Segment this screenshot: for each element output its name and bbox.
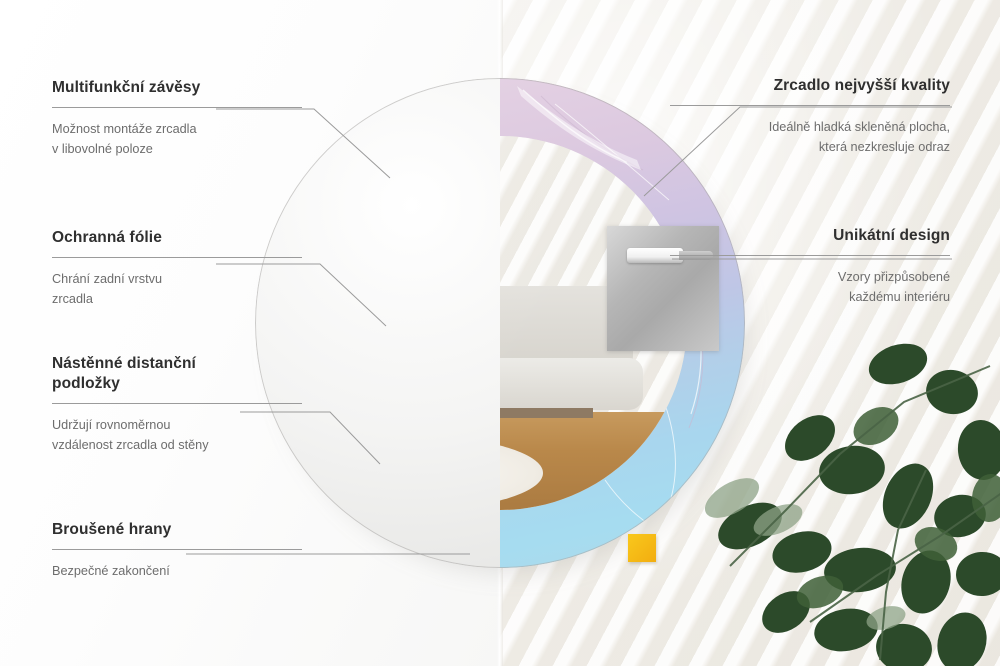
- callout-rule: [52, 257, 302, 258]
- callout-title: Broušené hrany: [52, 520, 302, 540]
- callout-multifunctional-hangers: Multifunkční závěsy Možnost montáže zrca…: [52, 78, 302, 160]
- infographic-canvas: Multifunkční závěsy Možnost montáže zrca…: [0, 0, 1000, 666]
- callout-rule: [670, 255, 950, 256]
- callout-title: Multifunkční závěsy: [52, 78, 302, 98]
- wall-spacer-pad: [628, 534, 656, 562]
- callout-description: Možnost montáže zrcadla v libovolné polo…: [52, 119, 302, 160]
- callout-description: Bezpečné zakončení: [52, 561, 302, 582]
- callout-title: Nástěnné distanční podložky: [52, 354, 302, 394]
- callout-description: Chrání zadní vrstvu zrcadla: [52, 269, 302, 310]
- callout-rule: [52, 107, 302, 108]
- callout-description: Vzory přizpůsobené každému interiéru: [670, 267, 950, 308]
- callout-title: Zrcadlo nejvyšší kvality: [670, 76, 950, 96]
- callout-highest-quality-mirror: Zrcadlo nejvyšší kvality Ideálně hladká …: [670, 76, 950, 158]
- callout-rule: [52, 549, 302, 550]
- callout-description: Udržují rovnoměrnou vzdálenost zrcadla o…: [52, 415, 302, 456]
- callout-rule: [670, 105, 950, 106]
- callout-wall-spacers: Nástěnné distanční podložky Udržují rovn…: [52, 354, 302, 456]
- callout-unique-design: Unikátní design Vzory přizpůsobené každé…: [670, 226, 950, 308]
- callout-protective-film: Ochranná fólie Chrání zadní vrstvu zrcad…: [52, 228, 302, 310]
- callout-rule: [52, 403, 302, 404]
- callout-polished-edges: Broušené hrany Bezpečné zakončení: [52, 520, 302, 581]
- callout-description: Ideálně hladká skleněná plocha, která ne…: [670, 117, 950, 158]
- callout-title: Ochranná fólie: [52, 228, 302, 248]
- callout-title: Unikátní design: [670, 226, 950, 246]
